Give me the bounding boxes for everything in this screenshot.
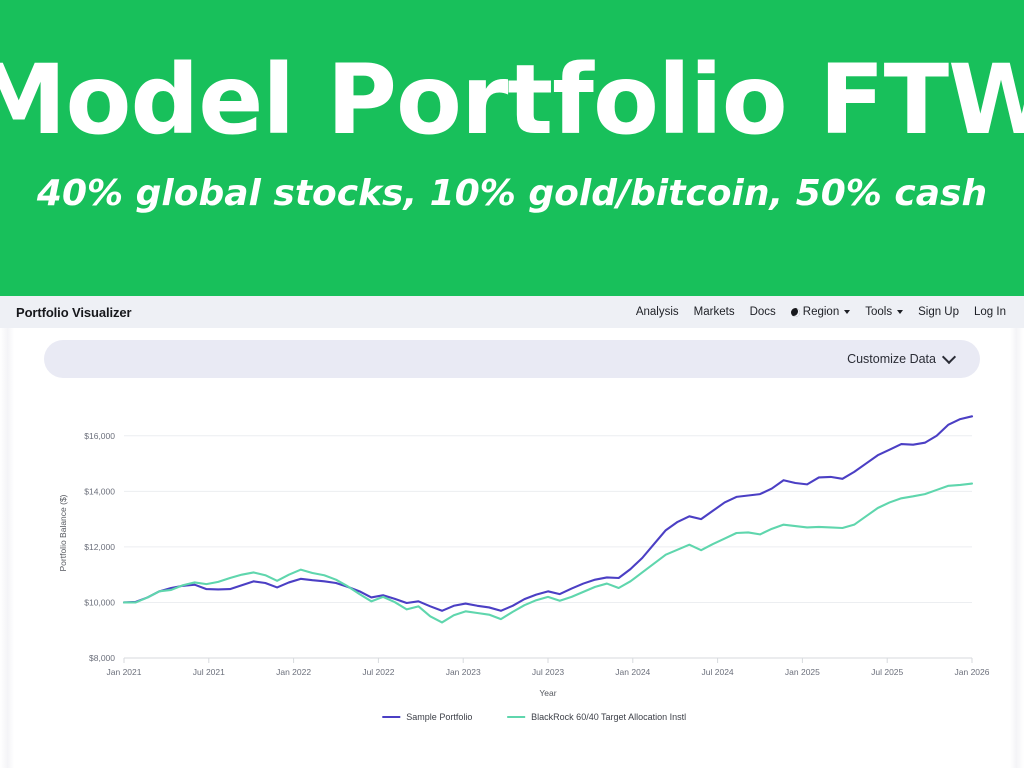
x-axis-title: Year	[539, 688, 556, 698]
x-axis-tick-label: Jul 2023	[532, 667, 564, 677]
x-axis-tick-label: Jul 2022	[362, 667, 394, 677]
portfolio-growth-chart[interactable]: $8,000$10,000$12,000$14,000$16,000Jan 20…	[44, 390, 994, 760]
y-axis-title: Portfolio Balance ($)	[58, 494, 68, 571]
customize-data-button[interactable]: Customize Data	[831, 345, 970, 373]
chart-svg: $8,000$10,000$12,000$14,000$16,000Jan 20…	[44, 390, 994, 760]
nav-label: Tools	[865, 306, 892, 318]
nav-item-sign-up[interactable]: Sign Up	[918, 306, 959, 318]
brand-logo[interactable]: Portfolio Visualizer	[16, 305, 132, 320]
legend-label-1[interactable]: Sample Portfolio	[406, 712, 472, 722]
y-axis-tick-label: $14,000	[84, 486, 115, 496]
chevron-down-icon	[897, 310, 903, 314]
x-axis-tick-label: Jul 2025	[871, 667, 903, 677]
content-area: Customize Data $8,000$10,000$12,000$14,0…	[14, 328, 1010, 768]
nav-label: Analysis	[636, 306, 679, 318]
globe-icon	[791, 308, 800, 317]
x-axis-tick-label: Jan 2026	[955, 667, 990, 677]
x-axis-tick-label: Jan 2023	[446, 667, 481, 677]
customize-data-label: Customize Data	[847, 352, 936, 366]
legend-label-2[interactable]: BlackRock 60/40 Target Allocation Instl	[531, 712, 686, 722]
nav-label: Log In	[974, 306, 1006, 318]
y-axis-tick-label: $12,000	[84, 542, 115, 552]
series-line-2	[124, 484, 972, 623]
nav-item-analysis[interactable]: Analysis	[636, 306, 679, 318]
nav-label: Region	[803, 306, 839, 318]
x-axis-tick-label: Jul 2024	[702, 667, 734, 677]
portfolio-visualizer-page: Portfolio Visualizer Analysis Markets Do…	[0, 296, 1024, 768]
banner-title: Model Portfolio FTW	[0, 52, 1024, 148]
nav-links: Analysis Markets Docs Region Tools	[636, 306, 1006, 318]
x-axis-tick-label: Jan 2021	[107, 667, 142, 677]
page-left-edge	[0, 328, 14, 768]
chart-toolbar: Customize Data	[44, 340, 980, 378]
screenshot-root: Model Portfolio FTW 40% global stocks, 1…	[0, 0, 1024, 768]
nav-item-markets[interactable]: Markets	[694, 306, 735, 318]
promo-banner: Model Portfolio FTW 40% global stocks, 1…	[0, 0, 1024, 296]
nav-item-log-in[interactable]: Log In	[974, 306, 1006, 318]
nav-label: Sign Up	[918, 306, 959, 318]
chevron-down-icon	[844, 310, 850, 314]
x-axis-tick-label: Jan 2022	[276, 667, 311, 677]
chevron-down-icon	[942, 350, 956, 364]
x-axis-tick-label: Jan 2025	[785, 667, 820, 677]
x-axis-tick-label: Jan 2024	[615, 667, 650, 677]
nav-item-region[interactable]: Region	[791, 306, 850, 318]
y-axis-tick-label: $16,000	[84, 431, 115, 441]
page-right-edge	[1010, 328, 1024, 768]
nav-item-docs[interactable]: Docs	[750, 306, 776, 318]
nav-label: Markets	[694, 306, 735, 318]
y-axis-tick-label: $8,000	[89, 653, 115, 663]
nav-label: Docs	[750, 306, 776, 318]
y-axis-tick-label: $10,000	[84, 597, 115, 607]
series-line-1	[124, 416, 972, 610]
banner-subtitle: 40% global stocks, 10% gold/bitcoin, 50%…	[37, 174, 987, 214]
top-navbar: Portfolio Visualizer Analysis Markets Do…	[0, 296, 1024, 328]
nav-item-tools[interactable]: Tools	[865, 306, 903, 318]
x-axis-tick-label: Jul 2021	[193, 667, 225, 677]
